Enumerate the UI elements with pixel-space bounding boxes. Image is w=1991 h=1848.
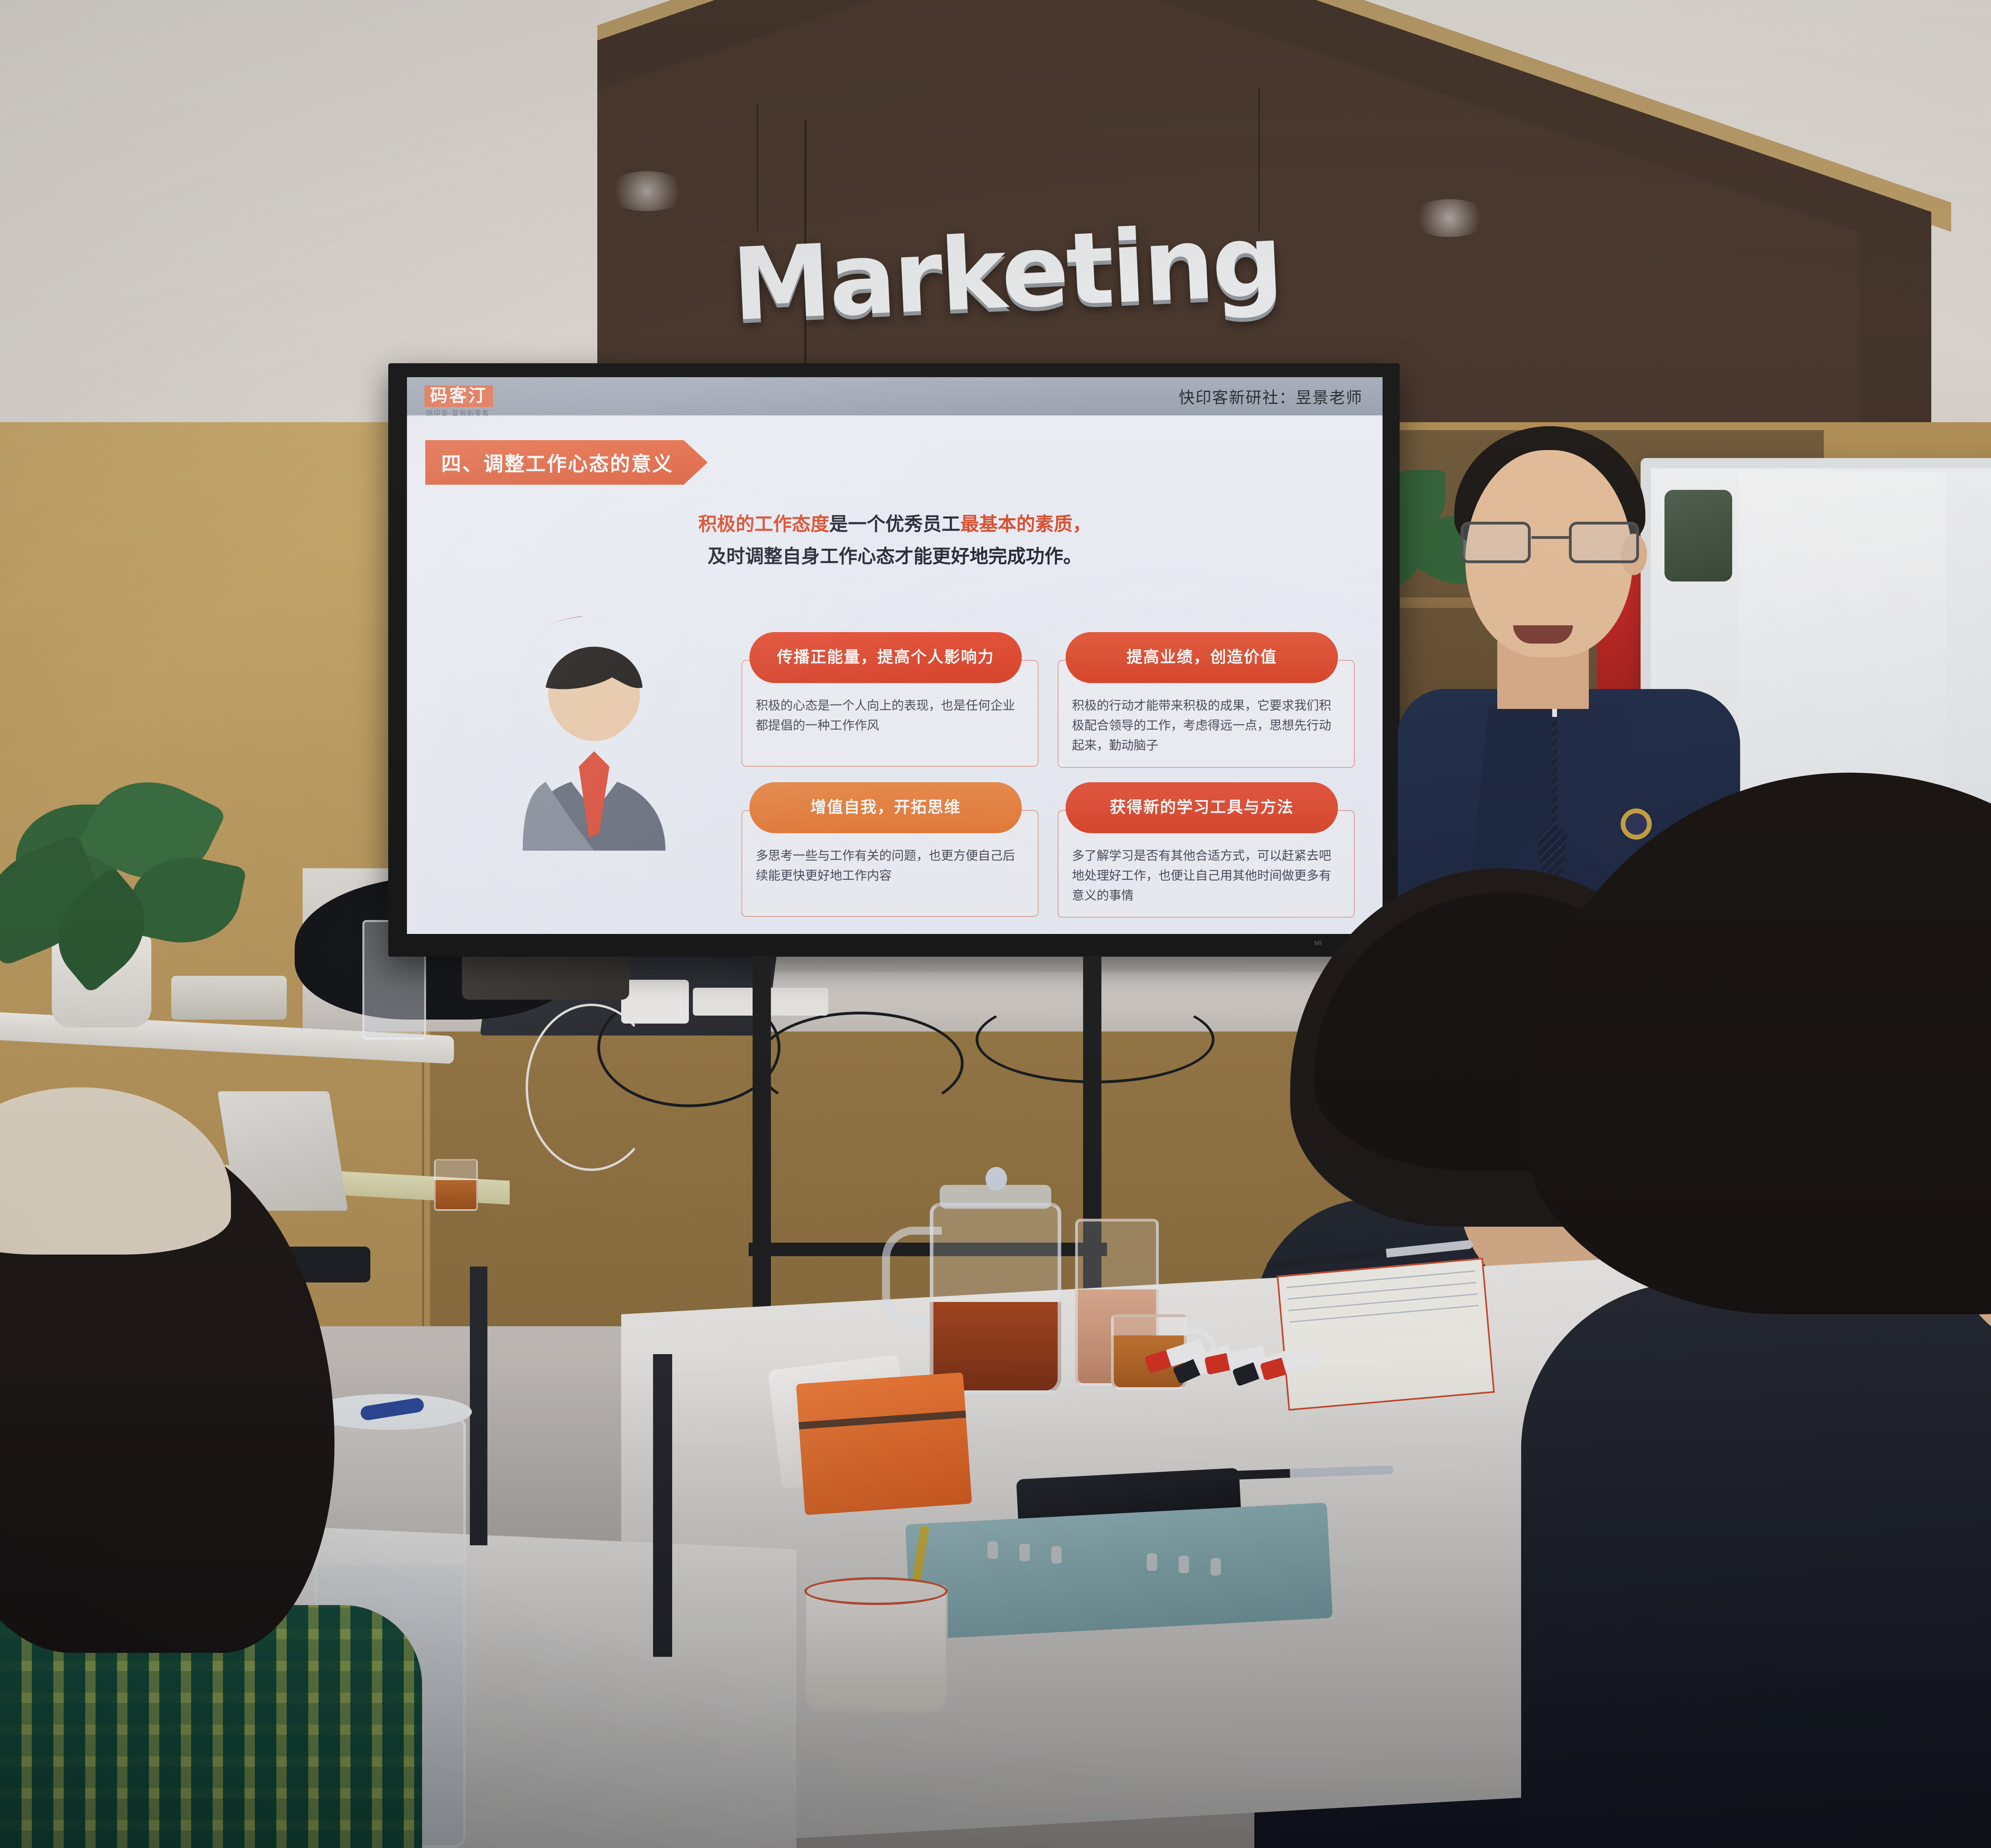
orange-bag-band [799, 1411, 966, 1429]
teapot [930, 1203, 1061, 1394]
orange-bag [796, 1372, 972, 1515]
card-1-chip: 传播正能量，提高个人影响力 [749, 632, 1022, 683]
brand-badge: 码客汀 [424, 386, 493, 407]
small-tea-glass-left [434, 1159, 478, 1211]
notebook-ring [988, 1541, 998, 1559]
card-2: 提高业绩，创造价值 积极的行动才能带来积极的成果，它要求我们积极配合领导的工作，… [1058, 632, 1355, 768]
attendee-foreground-hair [1521, 773, 1991, 1314]
notebook-ring [1147, 1553, 1157, 1571]
card-4-chip: 获得新的学习工具与方法 [1066, 782, 1338, 833]
meeting-room-photo: Marketing ASUS 码客汀 快印客新研社：昱景老师 快印客 营销新零售… [0, 0, 1991, 1848]
glasses-lens-right [1569, 522, 1639, 563]
marketing-sign-text: Marketing [730, 211, 1283, 335]
notepad [1277, 1258, 1495, 1411]
card-3-body: 多思考一些与工作有关的问题，也更方便自己后续能更快更好地工作内容 [756, 846, 1026, 886]
marketing-sign: Marketing [730, 211, 1285, 363]
table-leg-1 [653, 1354, 672, 1657]
ceiling-light-1 [605, 171, 689, 211]
ashtray [171, 976, 287, 1020]
blue-notebook[interactable] [905, 1502, 1333, 1640]
notebook-ring [1051, 1546, 1062, 1564]
lead-rest-1: 是一个优秀员工 [829, 513, 960, 535]
white-cable [526, 1004, 657, 1171]
slide-lead-text: 积极的工作态度是一个优秀员工最基本的素质， 及时调整自身工作心态才能更好地完成功… [407, 509, 1383, 573]
slide-presenter-label: 快印客新研社：昱景老师 [1179, 385, 1363, 408]
notebook-ring [1211, 1558, 1221, 1576]
power-adapter [621, 980, 689, 1024]
slide-topbar: 码客汀 快印客新研社：昱景老师 [407, 377, 1383, 415]
ceiling-light-2 [1410, 199, 1489, 237]
card-3-chip: 增值自我，开拓思维 [749, 782, 1022, 833]
attendee-left-foreground [0, 1135, 414, 1848]
presenter-mouth [1513, 625, 1573, 644]
glasses-bridge [1531, 536, 1570, 539]
slide-section-title: 四、调整工作心态的意义 [425, 440, 708, 485]
table-leg-2 [470, 1267, 487, 1545]
card-2-chip: 提高业绩，创造价值 [1066, 632, 1338, 683]
mug-rim [804, 1577, 948, 1605]
notebook-ring [1179, 1556, 1189, 1573]
attendee-foreground-body [1521, 1282, 1991, 1848]
lead-highlight-2: 最基本的素质， [960, 513, 1091, 535]
card-row-1: 传播正能量，提高个人影响力 积极的心态是一个人向上的表现，也是任何企业都提倡的一… [741, 632, 1355, 782]
glasses-lens-left [1461, 522, 1531, 563]
card-2-body: 积极的行动才能带来积极的成果，它要求我们积极配合领导的工作，考虑得远一点，思想先… [1072, 696, 1342, 756]
notebook-ring [1019, 1544, 1030, 1561]
card-1: 传播正能量，提高个人影响力 积极的心态是一个人向上的表现，也是任何企业都提倡的一… [741, 632, 1039, 768]
teapot-knob [986, 1167, 1007, 1191]
card-3: 增值自我，开拓思维 多思考一些与工作有关的问题，也更方便自己后续能更快更好地工作… [741, 782, 1039, 918]
glasses-icon [1461, 522, 1641, 566]
power-cable-2 [757, 1012, 964, 1115]
notepad-lines [1287, 1270, 1485, 1398]
lead-highlight-1: 积极的工作态度 [698, 513, 829, 535]
presentation-slide: 码客汀 快印客新研社：昱景老师 快印客 营销新零售 四、调整工作心态的意义 积极… [407, 377, 1383, 934]
sign-wire-left [757, 104, 758, 231]
tv-screen[interactable]: 码客汀 快印客新研社：昱景老师 快印客 营销新零售 四、调整工作心态的意义 积极… [407, 377, 1383, 934]
donut-infographic [467, 616, 722, 871]
brand-subtitle: 快印客 营销新零售 [426, 407, 489, 417]
attendee-foreground [1521, 773, 1991, 1848]
slide-lead-line-1: 积极的工作态度是一个优秀员工最基本的素质， [407, 509, 1383, 541]
slide-lead-line-2: 及时调整自身工作心态才能更好地完成功作。 [407, 541, 1383, 573]
card-1-body: 积极的心态是一个人向上的表现，也是任何企业都提倡的一种工作作风 [756, 696, 1026, 736]
businessman-avatar-icon [467, 616, 722, 871]
